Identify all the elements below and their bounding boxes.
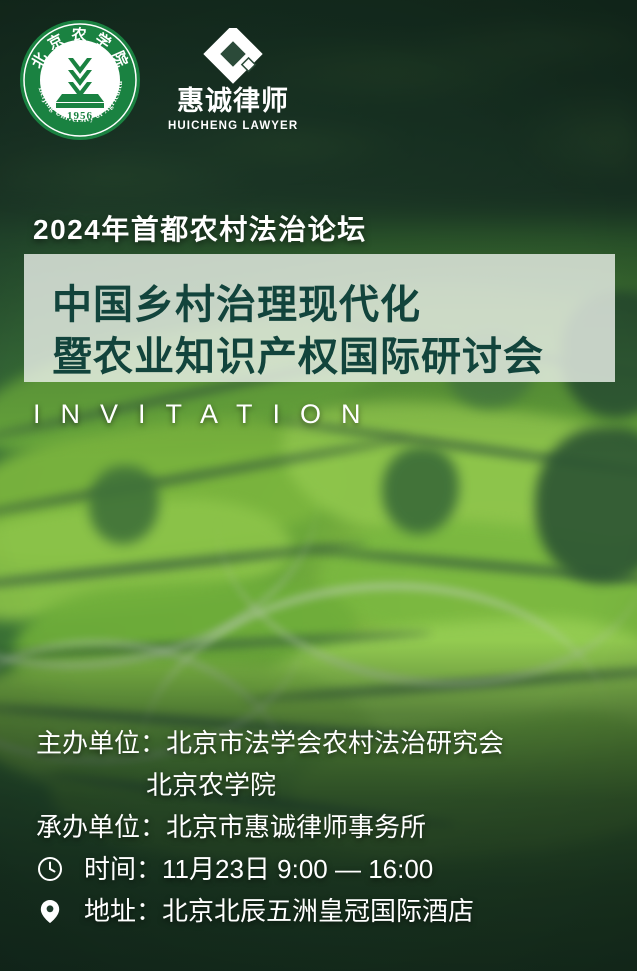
address-line: 地址： 北京北辰五洲皇冠国际酒店 <box>0 890 637 932</box>
map-pin-icon <box>36 897 64 925</box>
svg-text:1956: 1956 <box>67 110 93 122</box>
law-firm-logo: 惠诚律师 HUICHENG LAWYER <box>168 28 298 132</box>
co-organizer-line: 承办单位： 北京市惠诚律师事务所 <box>0 806 637 848</box>
invitation-poster: 北京农学院 Beijing University of Agriculture … <box>0 0 637 971</box>
title-band: 中国乡村治理现代化 暨农业知识产权国际研讨会 <box>24 254 615 382</box>
organizer-value-2: 北京农学院 <box>146 772 276 798</box>
law-firm-name-en: HUICHENG LAWYER <box>168 120 298 132</box>
organizer-line-1: 主办单位： 北京市法学会农村法治研究会 <box>0 722 637 764</box>
time-label: 时间： <box>84 856 162 882</box>
huicheng-diamond-mark-icon <box>168 28 298 84</box>
clock-icon <box>36 855 64 883</box>
logo-row: 北京农学院 Beijing University of Agriculture … <box>0 0 637 150</box>
invitation-label: INVITATION <box>33 399 381 430</box>
co-organizer-value: 北京市惠诚律师事务所 <box>166 814 426 840</box>
title-line-1: 中国乡村治理现代化 <box>52 272 421 330</box>
organizer-value-1: 北京市法学会农村法治研究会 <box>166 730 504 756</box>
beijing-university-of-agriculture-seal-icon: 北京农学院 Beijing University of Agriculture … <box>18 18 142 142</box>
organizer-line-2: 北京农学院 <box>0 764 637 806</box>
title-line-2: 暨农业知识产权国际研讨会 <box>52 324 544 382</box>
co-organizer-label: 承办单位： <box>36 814 166 840</box>
address-value: 北京北辰五洲皇冠国际酒店 <box>162 898 474 924</box>
organizer-label: 主办单位： <box>36 730 166 756</box>
time-line: 时间： 11月23日 9:00 — 16:00 <box>0 848 637 890</box>
event-details-block: 主办单位： 北京市法学会农村法治研究会 北京农学院 承办单位： 北京市惠诚律师事… <box>0 722 637 932</box>
address-label: 地址： <box>84 898 162 924</box>
event-subtitle: 2024年首都农村法治论坛 <box>33 208 367 248</box>
law-firm-name-cn: 惠诚律师 <box>168 87 298 117</box>
time-value: 11月23日 9:00 — 16:00 <box>162 856 433 882</box>
